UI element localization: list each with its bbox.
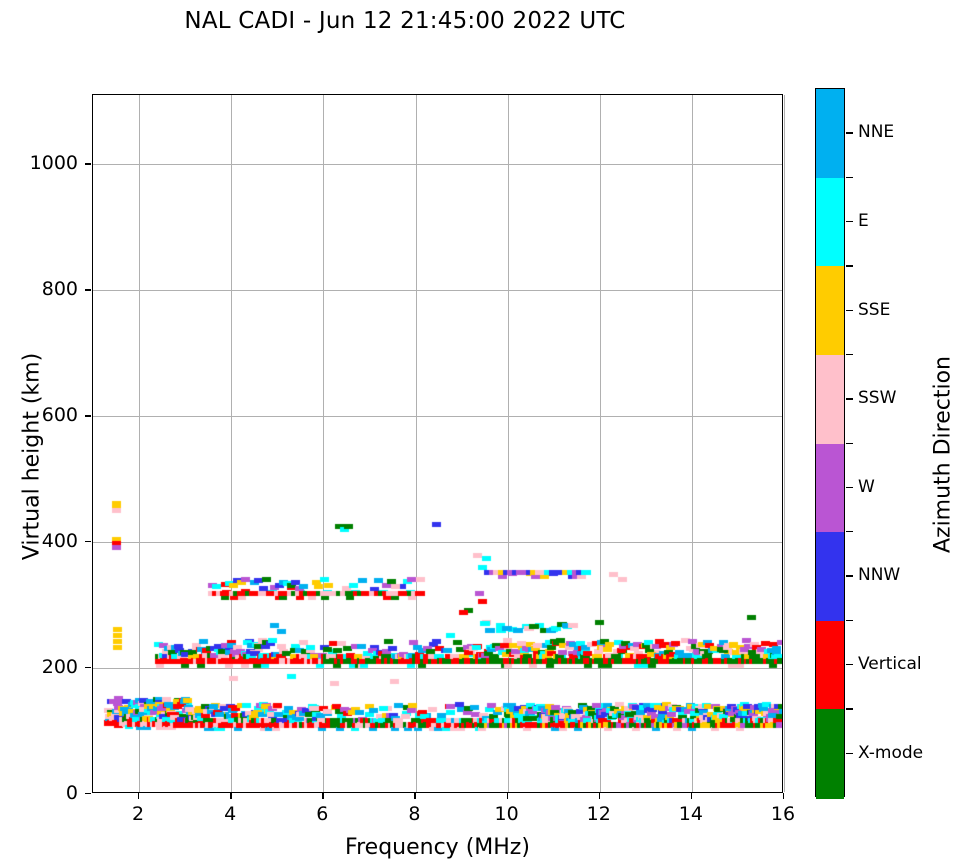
colorbar-segment-e [816,178,844,267]
colorbar-tick [846,398,853,399]
x-axis-tick-label: 2 [132,803,144,825]
x-axis-tick [138,793,139,799]
x-axis-tick [230,793,231,799]
page-title: NAL CADI - Jun 12 21:45:00 2022 UTC [0,8,810,34]
x-axis-title: Frequency (MHz) [92,835,783,860]
y-axis-tick [85,793,91,794]
colorbar-label-ssw: SSW [858,388,896,408]
y-axis-tick [85,667,91,668]
colorbar-segment-w [816,444,844,533]
colorbar-boundary-tick [846,620,853,621]
x-axis-tick [414,793,415,799]
colorbar-label-nnw: NNW [858,565,900,585]
y-axis-tick-label: 0 [66,782,78,804]
colorbar-title: Azimuth Direction [931,290,956,620]
colorbar-label-nne: NNE [858,122,894,142]
x-axis-tick-label: 14 [679,803,703,825]
x-axis-tick [322,793,323,799]
gridline-vertical [784,95,785,792]
colorbar-tick [846,132,853,133]
x-axis-tick-label: 6 [316,803,328,825]
colorbar-tick [846,575,853,576]
colorbar-segment-sse [816,266,844,355]
y-axis-title: Virtual height (km) [20,297,45,617]
colorbar-label-w: W [858,477,875,497]
y-axis-tick [85,163,91,164]
colorbar-segment-vertical [816,621,844,710]
scatter-data-layer [93,95,782,792]
x-axis-tick-label: 4 [224,803,236,825]
y-axis-tick-label: 200 [42,656,78,678]
y-axis-tick [85,289,91,290]
colorbar-tick [846,664,853,665]
y-axis-tick-label: 600 [42,404,78,426]
colorbar-label-x-mode: X-mode [858,743,923,763]
colorbar-boundary-tick [846,177,853,178]
colorbar-segment-nne [816,89,844,178]
y-axis-tick-label: 400 [42,530,78,552]
x-axis-tick [507,793,508,799]
colorbar-segment-x-mode [816,709,844,798]
colorbar-boundary-tick [846,708,853,709]
colorbar-boundary-tick [846,354,853,355]
colorbar-boundary-tick [846,443,853,444]
colorbar-tick [846,221,853,222]
x-axis-tick [691,793,692,799]
x-axis-tick [783,793,784,799]
x-axis-tick-label: 16 [771,803,795,825]
azimuth-colorbar [815,88,845,797]
x-axis-tick-label: 10 [495,803,519,825]
colorbar-boundary-tick [846,531,853,532]
y-axis-tick [85,415,91,416]
ionogram-plot-area [92,94,783,793]
x-axis-tick [599,793,600,799]
colorbar-boundary-tick [846,265,853,266]
colorbar-label-e: E [858,211,869,231]
colorbar-tick [846,753,853,754]
y-axis-tick-label: 800 [42,278,78,300]
colorbar-segment-ssw [816,355,844,444]
x-axis-tick-label: 12 [587,803,611,825]
colorbar-label-sse: SSE [858,300,890,320]
colorbar-label-vertical: Vertical [858,654,922,674]
y-axis-tick-label: 1000 [30,152,78,174]
ionogram-echo-canvas [93,95,782,792]
y-axis-tick [85,541,91,542]
colorbar-segment-nnw [816,532,844,621]
x-axis-tick-label: 8 [408,803,420,825]
colorbar-tick [846,310,853,311]
colorbar-tick [846,487,853,488]
